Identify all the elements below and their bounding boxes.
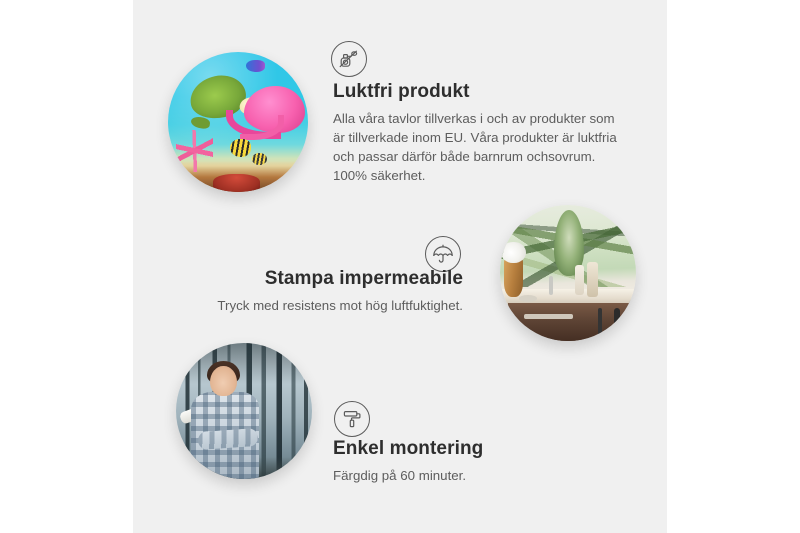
bath-cabinet-handle <box>614 308 619 338</box>
bath-bottle-2 <box>587 262 598 297</box>
forest-canopy <box>176 343 312 384</box>
sea-fish-yellow <box>230 139 251 157</box>
sea-rock-orange <box>274 178 299 192</box>
photo-inner-forest <box>176 343 312 479</box>
underwater-kids-mural-photo <box>168 52 308 192</box>
photo-inner-bath <box>500 205 636 341</box>
bath-cabinet-handle-2 <box>598 308 602 335</box>
bath-flowers <box>501 242 525 264</box>
feature-block-odourless-product: Luktfri produkt Alla våra tavlor tillver… <box>333 80 629 185</box>
feature-body: Färgdig på 60 minuter. <box>333 466 583 485</box>
bath-soap-dish <box>519 295 537 302</box>
feature-body: Alla våra tavlor tillverkas i och av pro… <box>333 109 629 185</box>
feature-block-moisture-resistant-print: Stampa impermeabile Tryck med resistens … <box>175 267 463 315</box>
feature-block-easy-installation: Enkel montering Färgdig på 60 minuter. <box>333 437 583 485</box>
feature-heading: Enkel montering <box>333 437 583 461</box>
sea-rock-red <box>213 174 261 192</box>
sea-coral <box>176 130 212 172</box>
bathroom-tropical-wallpaper-photo <box>500 205 636 341</box>
bath-bottle <box>575 265 585 295</box>
sea-fish-blue <box>246 60 264 71</box>
bath-drawer-pull <box>524 314 573 319</box>
feature-heading: Luktfri produkt <box>333 80 629 104</box>
screenshot-root: Luktfri produkt Alla våra tavlor tillver… <box>0 0 800 533</box>
woman-face <box>210 366 237 396</box>
sea-octopus <box>244 86 306 134</box>
bath-faucet <box>549 276 553 295</box>
feature-body: Tryck med resistens mot hög luftfuktighe… <box>175 296 463 315</box>
paint-roller-icon <box>334 401 370 437</box>
woman-paint-roller-forest-photo <box>176 343 312 479</box>
photo-inner-sea <box>168 52 308 192</box>
no-fragrance-icon <box>331 41 367 77</box>
feature-heading: Stampa impermeabile <box>175 267 463 291</box>
